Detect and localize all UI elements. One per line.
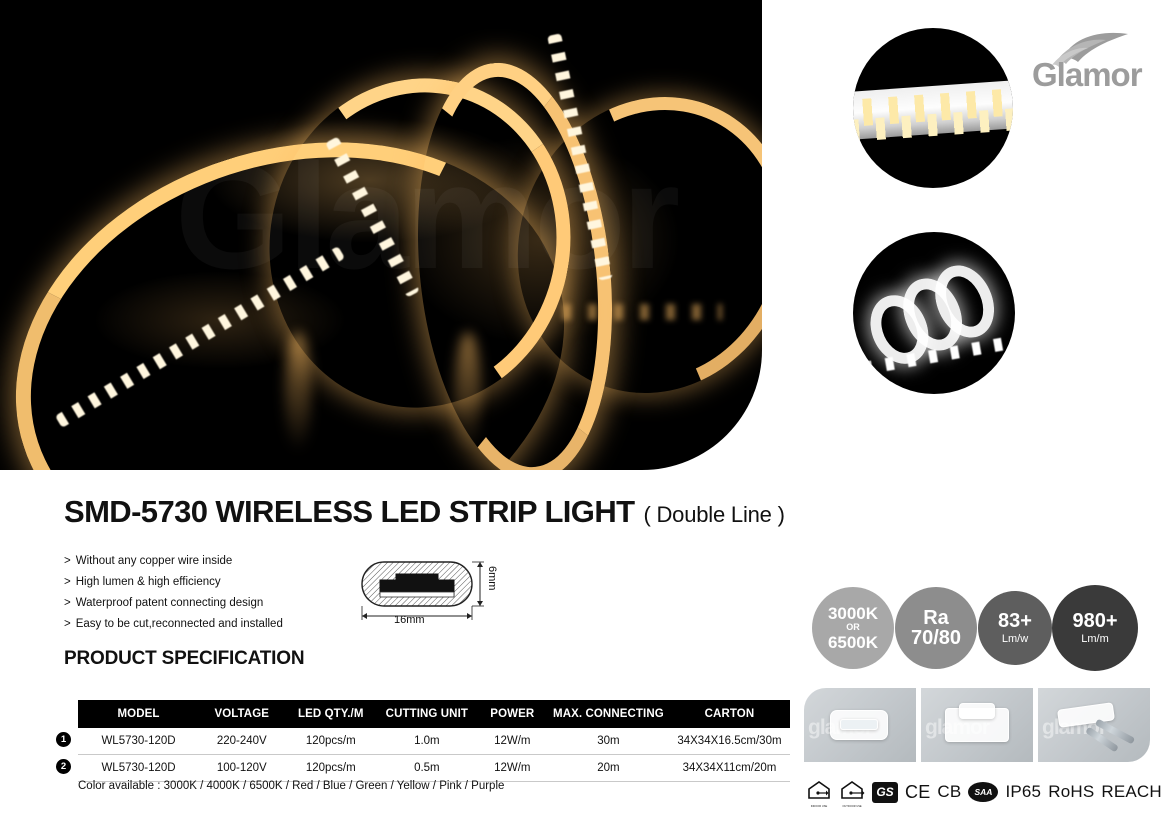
cell-power: 12W/m: [477, 755, 548, 782]
badge-efficacy: 83+ Lm/w: [978, 591, 1052, 665]
color-availability-note: Color available : 3000K / 4000K / 6500K …: [78, 780, 504, 792]
col-voltage: VOLTAGE: [199, 700, 284, 728]
spec-heading: PRODUCT SPECIFICATION: [64, 648, 304, 670]
caret-icon: >: [64, 555, 71, 567]
row-number-badge-2: 2: [56, 759, 71, 774]
outdoor-use-label: OUTDOOR USE: [842, 805, 861, 808]
feature-text: Without any copper wire inside: [76, 555, 233, 567]
title-main: SMD-5730 WIRELESS LED STRIP LIGHT: [64, 494, 634, 530]
feature-text: Waterproof patent connecting design: [76, 597, 264, 609]
cross-section-height-label: 6mm: [486, 566, 498, 590]
badge-luminous-flux: 980+ Lm/m: [1052, 585, 1138, 671]
reflection-2: [455, 332, 481, 452]
photo-connector: glamor: [921, 688, 1033, 762]
table-row: WL5730-120D 220-240V 120pcs/m 1.0m 12W/m…: [78, 728, 790, 755]
badge-line-2: 70/80: [911, 628, 961, 648]
cell-led-qty: 120pcs/m: [284, 755, 377, 782]
connector-top: [959, 703, 995, 719]
inset-led-strip-closeup: [853, 28, 1013, 188]
title-sub: ( Double Line ): [643, 502, 784, 528]
end-cap-slot: [840, 719, 878, 730]
saa-mark-icon: SAA: [968, 782, 998, 802]
col-model: MODEL: [78, 700, 199, 728]
badge-line-2: Lm/w: [1002, 634, 1028, 645]
cell-max-conn: 30m: [548, 728, 669, 755]
indoor-use-icon: INDOOR USE: [806, 779, 832, 805]
brand-name: Glamor: [1032, 56, 1142, 94]
cell-model: WL5730-120D: [78, 755, 199, 782]
ip-rating: IP65: [1005, 782, 1041, 802]
feature-list: >Without any copper wire inside >High lu…: [64, 555, 364, 639]
cell-model: WL5730-120D: [78, 728, 199, 755]
page-title: SMD-5730 WIRELESS LED STRIP LIGHT ( Doub…: [64, 494, 785, 530]
indoor-use-label: INDOOR USE: [811, 805, 827, 808]
cb-mark: CB: [937, 782, 961, 802]
photo-end-cap: glamor: [804, 688, 916, 762]
inset-led-strip-coil: [853, 232, 1015, 394]
brand-logo: Glamor: [1032, 28, 1154, 94]
badge-line-2: OR: [846, 623, 860, 632]
col-cutting: CUTTING UNIT: [377, 700, 477, 728]
certification-row: INDOOR USE OUTDOOR USE GS CE CB SAA IP65…: [806, 779, 1162, 805]
feature-text: Easy to be cut,reconnected and installed: [76, 618, 283, 630]
list-item: >Without any copper wire inside: [64, 555, 364, 567]
col-power: POWER: [477, 700, 548, 728]
product-datasheet-page: Glamor Glamor SMD-5730 WIRELESS LED STRI: [0, 0, 1176, 828]
badge-line-1: Ra: [923, 608, 949, 628]
list-item: >Easy to be cut,reconnected and installe…: [64, 618, 364, 630]
list-item: >High lumen & high efficiency: [64, 576, 364, 588]
col-led-qty: LED QTY./M: [284, 700, 377, 728]
cell-led-qty: 120pcs/m: [284, 728, 377, 755]
cell-cutting: 1.0m: [377, 728, 477, 755]
badge-line-1: 980+: [1072, 611, 1117, 631]
badge-line-2: Lm/m: [1081, 634, 1109, 645]
ce-mark: CE: [905, 782, 930, 803]
row-number-badge-1: 1: [56, 732, 71, 747]
table-header-row: MODEL VOLTAGE LED QTY./M CUTTING UNIT PO…: [78, 700, 790, 728]
badge-line-1: 83+: [998, 611, 1032, 631]
cell-power: 12W/m: [477, 728, 548, 755]
cell-carton: 34X34X16.5cm/30m: [669, 728, 790, 755]
col-carton: CARTON: [669, 700, 790, 728]
col-max-conn: MAX. CONNECTING: [548, 700, 669, 728]
feature-text: High lumen & high efficiency: [76, 576, 221, 588]
reflection-1: [285, 332, 311, 452]
accessory-photo-strip: glamor glamor glamor: [804, 688, 1150, 762]
cell-voltage: 100-120V: [199, 755, 284, 782]
cell-carton: 34X34X11cm/20m: [669, 755, 790, 782]
spec-table-wrapper: 1 2 MODEL VOLTAGE LED QTY./M CUTTING UNI…: [78, 700, 790, 782]
cross-section-width-label: 16mm: [394, 614, 425, 626]
hero-product-image: Glamor: [0, 0, 762, 470]
badge-line-3: 6500K: [828, 634, 878, 651]
outdoor-use-icon: OUTDOOR USE: [839, 779, 865, 805]
cross-section-diagram: 16mm 6mm: [358, 552, 533, 632]
cell-max-conn: 20m: [548, 755, 669, 782]
cell-voltage: 220-240V: [199, 728, 284, 755]
gs-mark-icon: GS: [872, 782, 898, 803]
reach-mark: REACH: [1101, 782, 1162, 802]
table-row: WL5730-120D 100-120V 120pcs/m 0.5m 12W/m…: [78, 755, 790, 782]
badge-line-1: 3000K: [828, 605, 878, 622]
photo-mounting-clip: glamor: [1038, 688, 1150, 762]
rohs-mark: RoHS: [1048, 782, 1094, 802]
list-item: >Waterproof patent connecting design: [64, 597, 364, 609]
caret-icon: >: [64, 576, 71, 588]
reflection-bokeh: [562, 304, 722, 320]
badge-cri: Ra 70/80: [895, 587, 977, 669]
badge-color-temperature: 3000K OR 6500K: [812, 587, 894, 669]
caret-icon: >: [64, 597, 71, 609]
caret-icon: >: [64, 618, 71, 630]
spec-table: MODEL VOLTAGE LED QTY./M CUTTING UNIT PO…: [78, 700, 790, 782]
cell-cutting: 0.5m: [377, 755, 477, 782]
